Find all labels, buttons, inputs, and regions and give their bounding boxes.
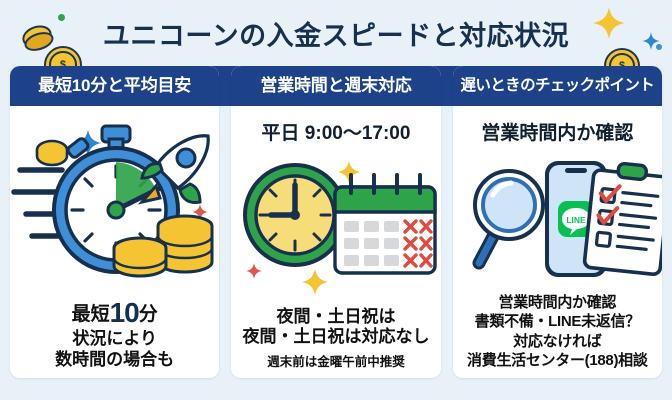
card-checkpoints[interactable]: 遅いときのチェックポイント 営業時間内か確認: [453, 66, 662, 378]
card-speed-header: 最短10分と平均目安: [10, 66, 219, 106]
checkpoints-lead: 営業時間内か確認: [481, 118, 633, 145]
checkpoint-line-3: 対応なければ: [453, 332, 662, 351]
clipboard-icon: [584, 161, 662, 275]
card-speed-body: 最短10分 状況により 数時間の場合も: [10, 106, 219, 378]
card-hours-body: 平日 9:00〜17:00: [231, 106, 440, 378]
card-checkpoints-text: 営業時間内か確認 書類不備・LINE未返信？ 対応なければ 消費生活センター(1…: [453, 293, 662, 378]
card-speed[interactable]: 最短10分と平均目安: [10, 66, 219, 378]
card-speed-text: 最短10分 状況により 数時間の場合も: [10, 296, 219, 378]
checkpoint-line-2: 書類不備・LINE未返信？: [453, 312, 662, 331]
card-hours-text: 夜間・土日祝は 夜間・土日祝は対応なし 週末前は金曜午前中推奨: [231, 307, 440, 378]
line-app-label: LINE: [566, 215, 586, 225]
checkpoint-line-4: 消費生活センター(188)相談: [453, 351, 662, 370]
page-title: ユニコーンの入金スピードと対応状況: [0, 14, 672, 53]
card-hours[interactable]: 営業時間と週末対応 平日 9:00〜17:00: [231, 66, 440, 378]
checkpoint-line-1: 営業時間内か確認: [453, 293, 662, 312]
hours-note-1: 夜間・土日祝は: [231, 307, 440, 327]
speed-prefix: 最短: [72, 304, 110, 325]
speed-number: 10: [110, 297, 139, 328]
hours-note-2: 夜間・土日祝は対応なし: [231, 327, 440, 347]
hours-note-3: 週末前は金曜午前中推奨: [231, 354, 440, 370]
magnifier-phone-clipboard-illustration: LINE: [453, 145, 662, 293]
speed-suffix: 分: [139, 304, 158, 325]
magnifier-icon: [475, 171, 543, 263]
card-hours-header: 営業時間と週末対応: [231, 66, 440, 106]
card-checkpoints-body: 営業時間内か確認: [453, 106, 662, 378]
calendar-icon: [335, 175, 435, 273]
hours-lead: 平日 9:00〜17:00: [262, 118, 411, 145]
clock-calendar-illustration: [231, 145, 440, 307]
speed-note-2: 数時間の場合も: [10, 350, 219, 370]
card-checkpoints-header: 遅いときのチェックポイント: [453, 66, 662, 106]
cards-row: 最短10分と平均目安: [10, 66, 662, 378]
infographic-canvas: $ $ ユニコーンの入金スピードと対応状況 最短10分と平均目安: [0, 0, 672, 400]
speed-headline: 最短10分: [10, 296, 219, 329]
speed-note-1: 状況により: [10, 329, 219, 349]
stopwatch-rocket-coins-illustration: [10, 106, 219, 296]
